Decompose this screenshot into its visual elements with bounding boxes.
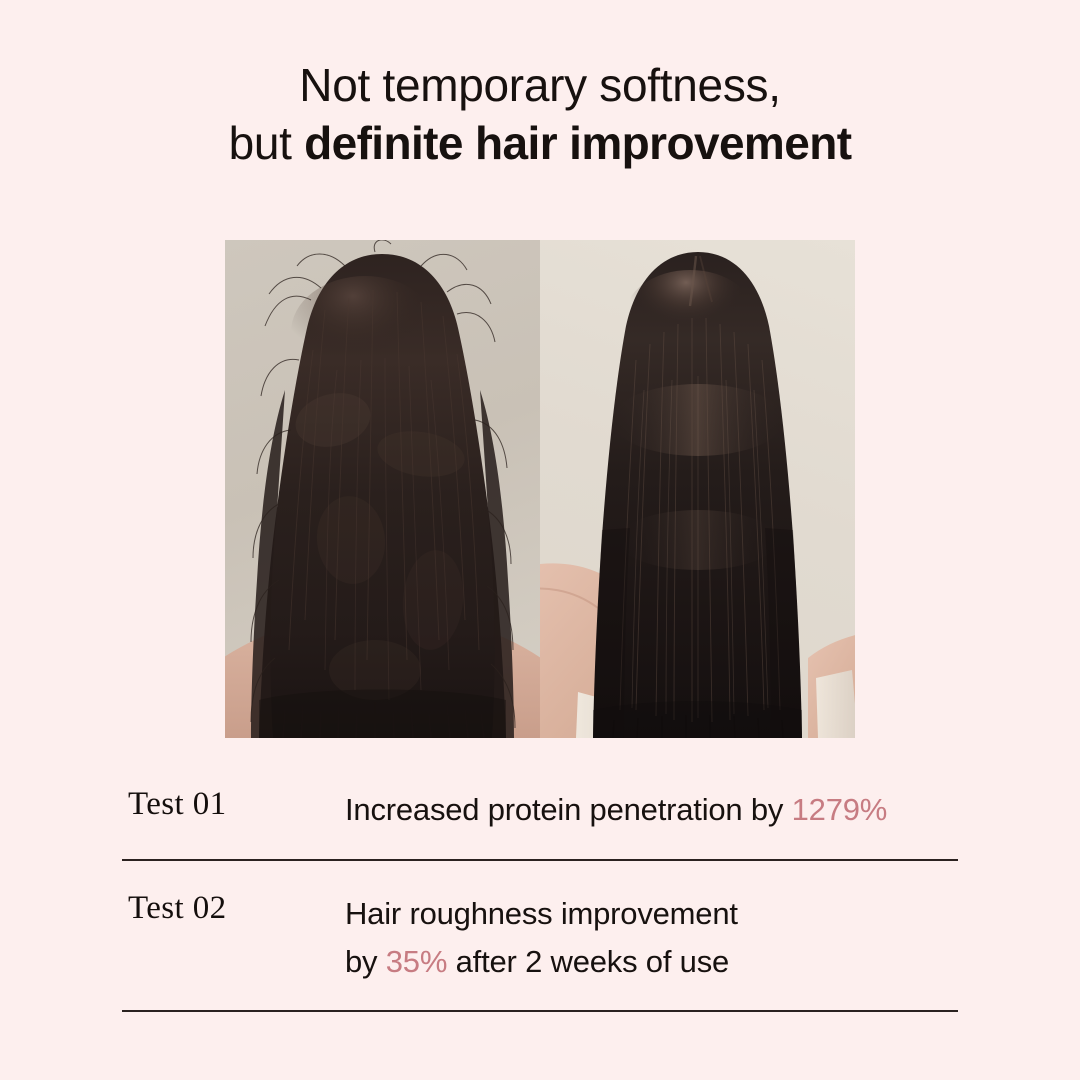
test-02-text-line1: Hair roughness improvement [345,896,738,931]
test-01-highlight-value: 1279% [792,792,888,827]
test-divider-1 [122,859,958,861]
test-results-section: Test 01 Increased protein penetration by… [0,0,1080,1080]
test-01-label: Test 01 [128,786,227,823]
test-02-text-pre: by [345,944,386,979]
test-01-text-pre: Increased protein penetration by [345,792,792,827]
test-01-description: Increased protein penetration by 1279% [345,786,887,834]
test-02-text-post: after 2 weeks of use [447,944,729,979]
test-02-label: Test 02 [128,890,227,927]
test-02-highlight-value: 35% [386,944,447,979]
test-02-description: Hair roughness improvementby 35% after 2… [345,890,738,986]
test-divider-2 [122,1010,958,1012]
